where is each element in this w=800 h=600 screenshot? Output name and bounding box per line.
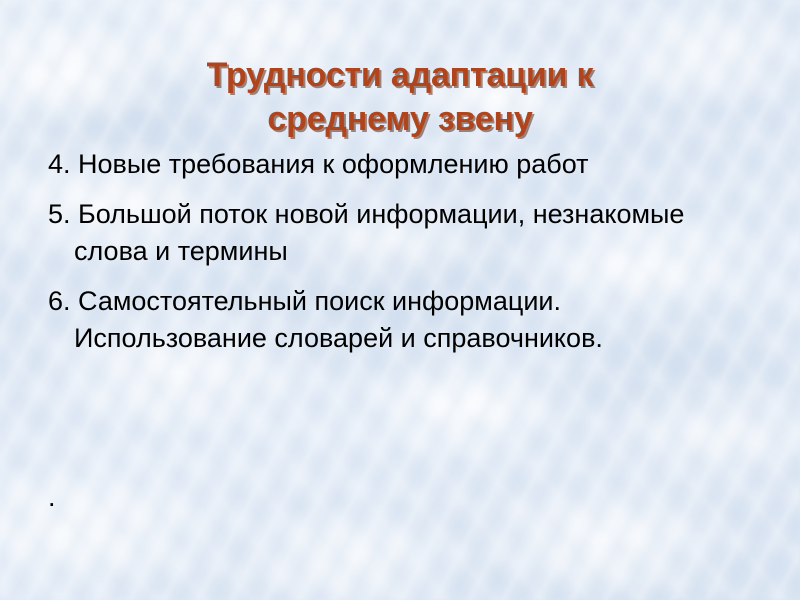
- slide-title: Трудности адаптации к среднему звену: [90, 53, 710, 141]
- slide: Трудности адаптации к среднему звену 4. …: [0, 0, 800, 600]
- slide-body-list: 4. Новые требования к оформлению работ 5…: [48, 146, 748, 357]
- list-item: 4. Новые требования к оформлению работ: [48, 146, 748, 183]
- slide-content: Трудности адаптации к среднему звену 4. …: [0, 0, 800, 600]
- list-item: 5. Большой поток новой информации, незна…: [48, 196, 748, 270]
- list-item: 6. Самостоятельный поиск информации. Исп…: [48, 283, 748, 357]
- trailing-period: .: [48, 479, 56, 516]
